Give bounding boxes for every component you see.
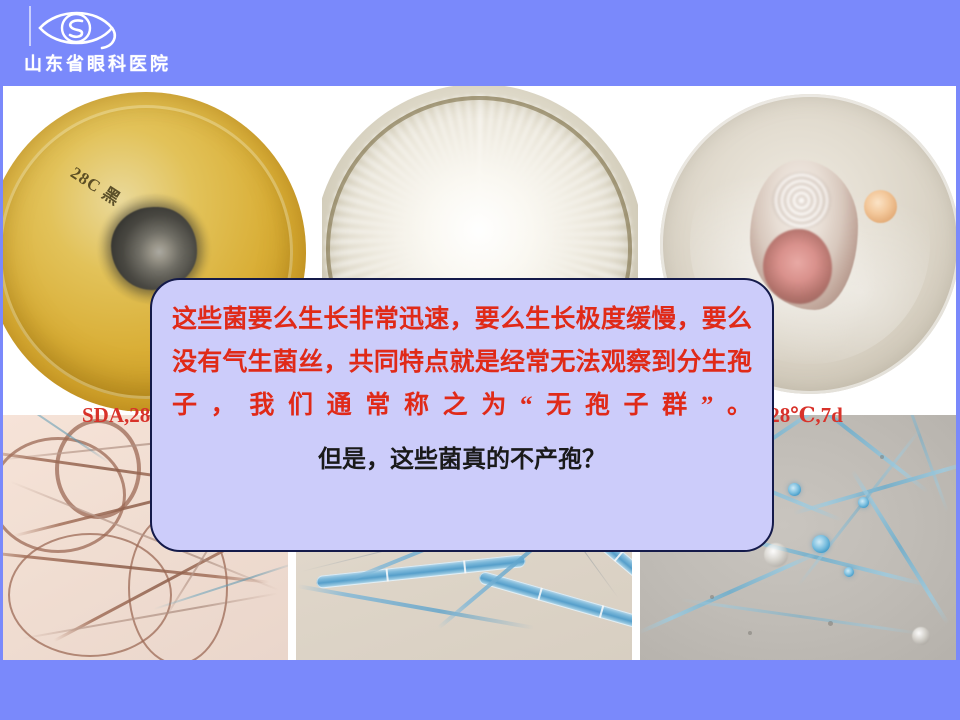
callout-balloon: 这些菌要么生长非常迅速，要么生长极度缓慢，要么没有气生菌丝，共同特点就是经常无法… bbox=[150, 278, 774, 552]
footer-band bbox=[0, 660, 960, 720]
hospital-logo: 山东省眼科医院 bbox=[14, 2, 164, 82]
plate-handwriting: 28C 黑 bbox=[67, 159, 127, 210]
conidial-head bbox=[812, 535, 830, 553]
callout-question: 但是，这些菌真的不产孢？ bbox=[172, 439, 752, 474]
hospital-name: 山东省眼科医院 bbox=[24, 50, 171, 76]
slide-canvas: 28C 黑 SDA,28℃,7d SDA,28℃,7d SDA,28℃,7d bbox=[0, 0, 960, 720]
conidial-head bbox=[788, 483, 801, 496]
conidial-head bbox=[844, 567, 854, 577]
orange-satellite-colony bbox=[864, 190, 897, 223]
left-edge-band bbox=[0, 86, 3, 660]
right-edge-band bbox=[956, 86, 960, 660]
conidial-head bbox=[858, 497, 869, 508]
callout-paragraph: 这些菌要么生长非常迅速，要么生长极度缓慢，要么没有气生菌丝，共同特点就是经常无法… bbox=[172, 298, 752, 427]
